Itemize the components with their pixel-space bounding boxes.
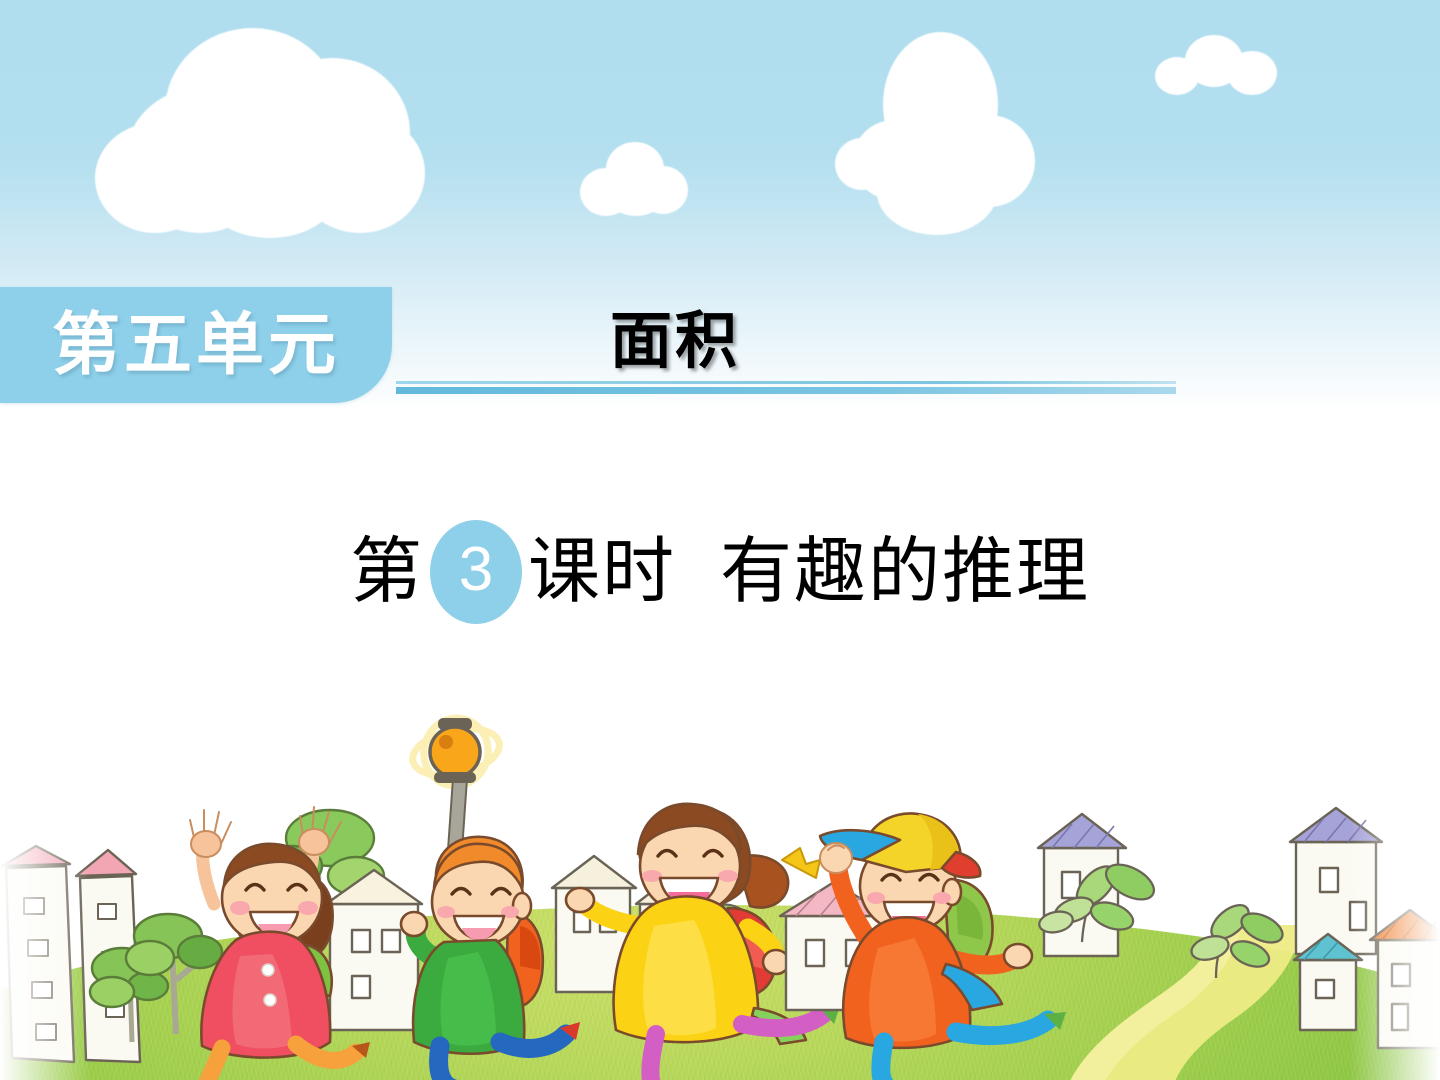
title-divider-thin — [396, 381, 1176, 384]
unit-banner: 第五单元 — [0, 287, 392, 403]
house-right-d — [1370, 910, 1440, 1048]
title-divider-thick — [396, 387, 1176, 394]
cloud-large-left — [95, 18, 425, 233]
illustration-scene — [0, 690, 1440, 1080]
cloud-medium-right — [835, 20, 1040, 235]
child-boy-green — [401, 837, 580, 1080]
lesson-heading: 第 3 课时 有趣的推理 — [0, 520, 1440, 624]
house-right-b — [1290, 808, 1382, 954]
lesson-number-badge: 3 — [430, 520, 522, 624]
leaf-sprig-right-2 — [1189, 899, 1287, 978]
child-boy-orange — [820, 813, 1066, 1080]
lesson-prefix: 第 — [350, 524, 424, 620]
slide-canvas: 第五单元 面积 第 3 课时 有趣的推理 — [0, 0, 1440, 1080]
unit-banner-label: 第五单元 — [52, 307, 340, 383]
cloud-small-mid — [580, 140, 688, 218]
lesson-topic: 有趣的推理 — [720, 524, 1090, 620]
cloud-tiny-right — [1155, 35, 1277, 97]
lesson-number: 3 — [459, 539, 493, 601]
page-title: 面积 — [610, 305, 740, 379]
house-midleft — [326, 870, 422, 1030]
lesson-suffix: 课时 — [528, 524, 676, 620]
